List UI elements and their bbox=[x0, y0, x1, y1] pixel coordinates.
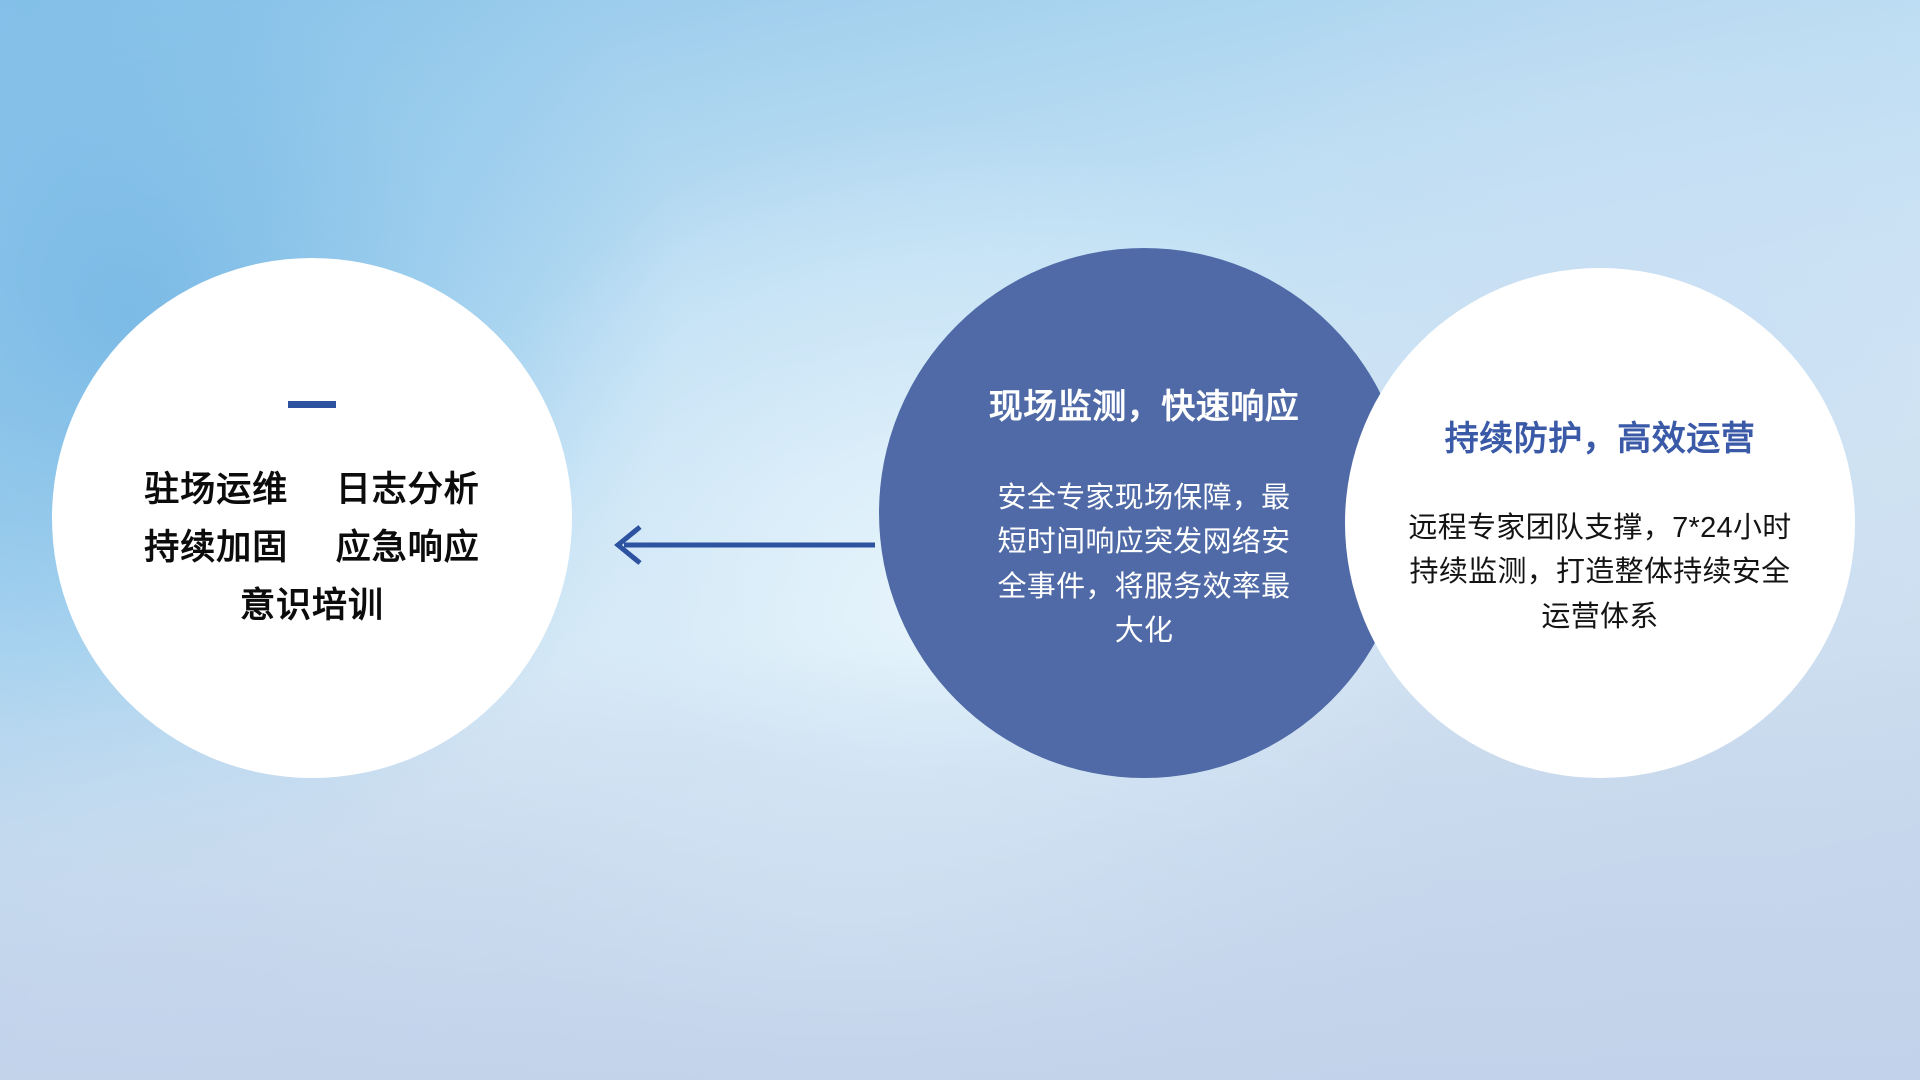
list-item: 持续加固 应急响应 bbox=[144, 519, 480, 577]
list-item: 驻场运维 日志分析 bbox=[144, 461, 480, 519]
capability-label: 意识培训 bbox=[240, 586, 384, 625]
service-capabilities-list: 驻场运维 日志分析 持续加固 应急响应 意识培训 bbox=[144, 461, 480, 635]
capability-label: 驻场运维 bbox=[144, 470, 288, 509]
arrow-left-icon bbox=[600, 512, 875, 578]
capability-label: 持续加固 bbox=[144, 528, 288, 567]
leftward-flow-arrow bbox=[600, 512, 875, 578]
service-capabilities-content: 驻场运维 日志分析 持续加固 应急响应 意识培训 bbox=[52, 258, 572, 778]
service-capabilities-circle[interactable]: 驻场运维 日志分析 持续加固 应急响应 意识培训 bbox=[52, 258, 572, 778]
continuous-protection-content: 持续防护，高效运营 远程专家团队支撑，7*24小时持续监测，打造整体持续安全运营… bbox=[1345, 268, 1855, 778]
continuous-protection-circle[interactable]: 持续防护，高效运营 远程专家团队支撑，7*24小时持续监测，打造整体持续安全运营… bbox=[1345, 268, 1855, 778]
onsite-monitoring-title: 现场监测，快速响应 bbox=[989, 379, 1300, 428]
continuous-protection-body: 远程专家团队支撑，7*24小时持续监测，打造整体持续安全运营体系 bbox=[1400, 506, 1800, 639]
slide-canvas: 现场监测，快速响应 安全专家现场保障，最短时间响应突发网络安全事件，将服务效率最… bbox=[0, 0, 1920, 1080]
capability-label: 应急响应 bbox=[336, 528, 480, 567]
onsite-monitoring-body: 安全专家现场保障，最短时间响应突发网络安全事件，将服务效率最大化 bbox=[994, 476, 1294, 653]
horizontal-dash-icon bbox=[288, 401, 336, 408]
continuous-protection-title: 持续防护，高效运营 bbox=[1445, 411, 1756, 460]
onsite-monitoring-circle[interactable]: 现场监测，快速响应 安全专家现场保障，最短时间响应突发网络安全事件，将服务效率最… bbox=[879, 248, 1409, 778]
capability-label: 日志分析 bbox=[336, 470, 480, 509]
onsite-monitoring-content: 现场监测，快速响应 安全专家现场保障，最短时间响应突发网络安全事件，将服务效率最… bbox=[879, 248, 1409, 778]
list-item: 意识培训 bbox=[144, 577, 480, 635]
